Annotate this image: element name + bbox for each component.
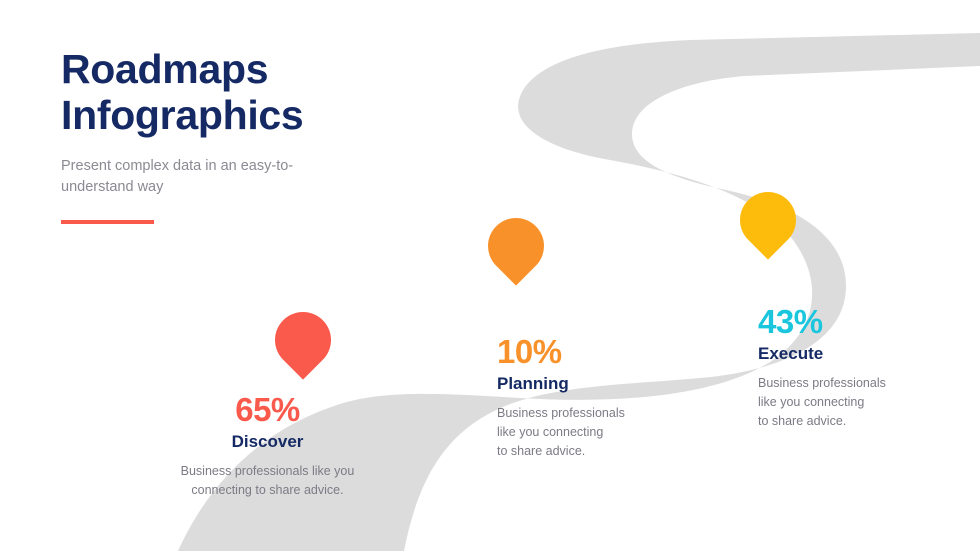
milestone-label-discover: Discover — [165, 430, 370, 454]
milestone-percent-discover: 65% — [165, 392, 370, 428]
milestone-execute: 43% Execute Business professionals like … — [758, 304, 933, 431]
milestone-percent-planning: 10% — [497, 334, 672, 370]
milestone-label-planning: Planning — [497, 372, 672, 396]
milestone-discover: 65% Discover Business professionals like… — [165, 392, 370, 500]
milestone-description-planning: Business professionals like you connecti… — [497, 404, 672, 461]
page-subtitle: Present complex data in an easy-to-under… — [61, 156, 316, 198]
page-title: Roadmaps Infographics — [61, 46, 391, 138]
roadmap-infographic-slide: Roadmaps Infographics Present complex da… — [0, 0, 980, 551]
milestone-description-discover: Business professionals like you connecti… — [165, 462, 370, 500]
accent-divider — [61, 220, 154, 224]
milestone-description-execute: Business professionals like you connecti… — [758, 374, 933, 431]
milestone-planning: 10% Planning Business professionals like… — [497, 334, 672, 461]
milestone-percent-execute: 43% — [758, 304, 933, 340]
title-block: Roadmaps Infographics Present complex da… — [61, 46, 391, 224]
milestone-label-execute: Execute — [758, 342, 933, 366]
